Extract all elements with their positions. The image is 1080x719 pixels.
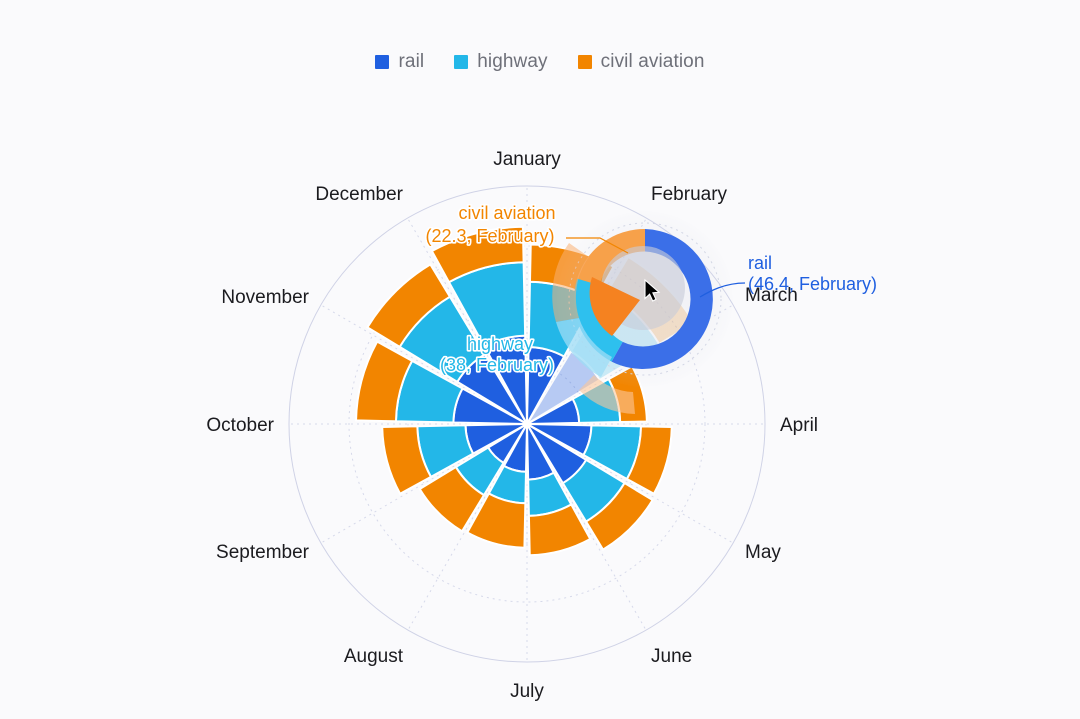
month-label-september: September [216, 542, 310, 563]
rail-callout-title: rail [748, 253, 772, 273]
rail-callout: rail (46.4, February) [748, 253, 877, 294]
polar-stacked-bar-chart[interactable]: January February March April May June Ju… [0, 0, 1080, 719]
rail-callout-value: (46.4, February) [748, 274, 877, 294]
month-label-november: November [221, 287, 309, 308]
civil-aviation-callout: civil aviation civil aviation (22.3, Feb… [425, 203, 555, 246]
month-label-april: April [780, 415, 818, 436]
month-label-may: May [745, 542, 781, 563]
month-label-october: October [206, 415, 274, 436]
month-label-august: August [344, 646, 404, 667]
highway-callout-title: highway [467, 334, 533, 354]
highway-callout-value: (38, February) [440, 355, 554, 375]
month-label-january: January [493, 149, 561, 170]
civil-aviation-callout-title: civil aviation [458, 203, 555, 223]
month-label-june: June [651, 646, 692, 667]
month-label-december: December [315, 184, 403, 205]
chart-canvas: rail highway civil aviation [0, 0, 1080, 719]
month-label-february: February [651, 184, 728, 205]
civil-aviation-callout-value: (22.3, February) [425, 226, 554, 246]
month-label-july: July [510, 681, 544, 702]
